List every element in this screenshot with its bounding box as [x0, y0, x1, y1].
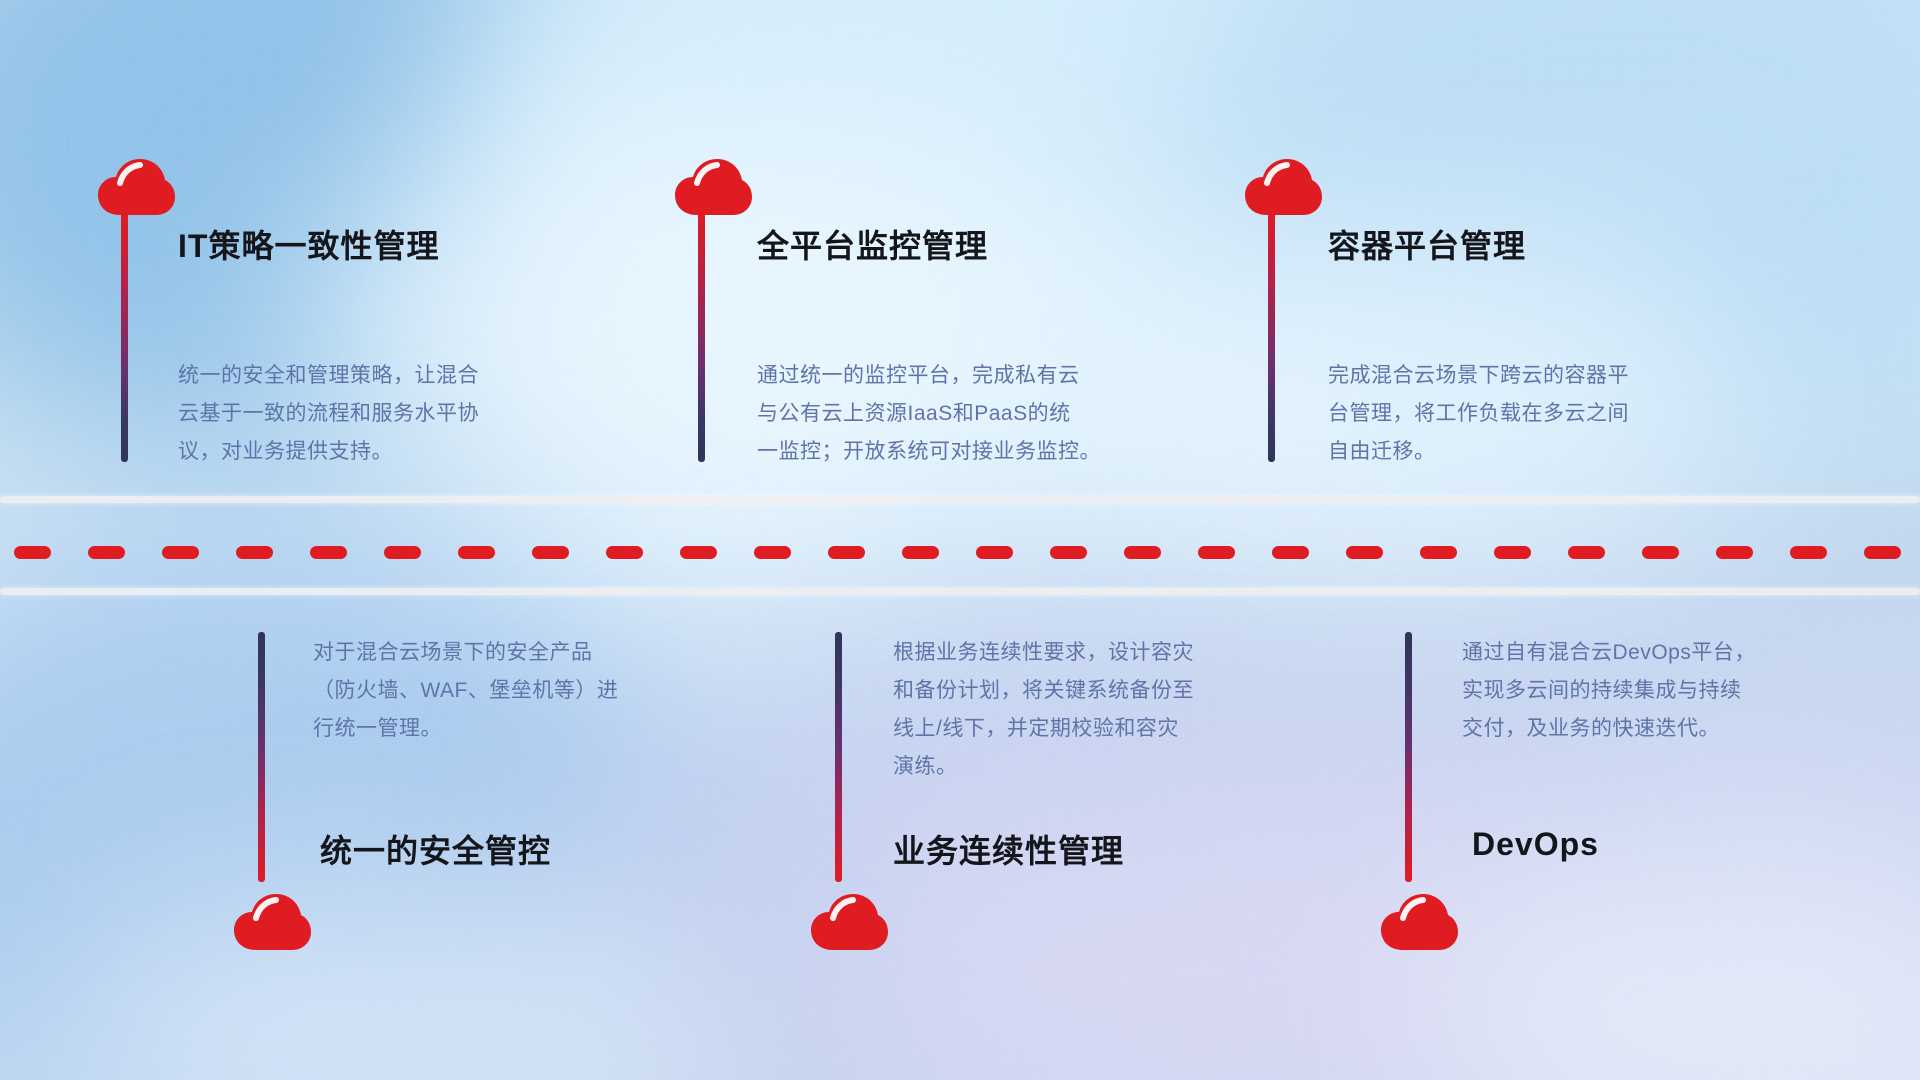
feature-title: 全平台监控管理 — [757, 221, 988, 267]
road-dash-segment — [1568, 546, 1605, 559]
road-dash-segment — [1420, 546, 1457, 559]
cloud-icon-glyph — [1379, 893, 1459, 955]
road-dash-segment — [1642, 546, 1679, 559]
road-dash-line — [0, 546, 1920, 559]
connector-line — [121, 212, 128, 462]
road-dash-segment — [680, 546, 717, 559]
road-dash-segment — [754, 546, 791, 559]
cloud-icon-glyph — [809, 893, 889, 955]
feature-description: 完成混合云场景下跨云的容器平 台管理，将工作负载在多云之间 自由迁移。 — [1328, 357, 1778, 471]
road-dash-segment — [1050, 546, 1087, 559]
road-dash-segment — [1346, 546, 1383, 559]
road-dash-segment — [14, 546, 51, 559]
road-dash-segment — [1494, 546, 1531, 559]
cloud-icon — [673, 158, 753, 220]
road-dash-segment — [236, 546, 273, 559]
road-dash-segment — [1716, 546, 1753, 559]
road-dash-segment — [828, 546, 865, 559]
cloud-icon-glyph — [673, 158, 753, 220]
road-dash-segment — [1272, 546, 1309, 559]
feature-description: 对于混合云场景下的安全产品 （防火墙、WAF、堡垒机等）进 行统一管理。 — [313, 634, 753, 748]
cloud-icon-glyph — [1243, 158, 1323, 220]
cloud-icon — [809, 893, 889, 955]
cloud-icon-glyph — [96, 158, 176, 220]
feature-description: 通过统一的监控平台，完成私有云 与公有云上资源IaaS和PaaS的统 一监控；开… — [757, 357, 1217, 471]
road-dash-segment — [1124, 546, 1161, 559]
feature-title: 统一的安全管控 — [320, 826, 551, 872]
road-dash-segment — [902, 546, 939, 559]
road-edge-top — [0, 496, 1920, 503]
road-dash-segment — [162, 546, 199, 559]
cloud-icon — [96, 158, 176, 220]
feature-title: DevOps — [1472, 826, 1599, 863]
feature-description: 根据业务连续性要求，设计容灾 和备份计划，将关键系统备份至 线上/线下，并定期校… — [893, 634, 1343, 786]
road-dash-segment — [458, 546, 495, 559]
road-dash-segment — [1198, 546, 1235, 559]
feature-title: IT策略一致性管理 — [178, 221, 439, 267]
cloud-icon — [1379, 893, 1459, 955]
connector-line — [835, 632, 842, 882]
connector-line — [1405, 632, 1412, 882]
road-dash-segment — [384, 546, 421, 559]
cloud-icon-glyph — [232, 893, 312, 955]
feature-description: 统一的安全和管理策略，让混合 云基于一致的流程和服务水平协 议，对业务提供支持。 — [178, 357, 628, 471]
road-dash-segment — [88, 546, 125, 559]
feature-title: 业务连续性管理 — [893, 826, 1124, 872]
road-dash-segment — [606, 546, 643, 559]
cloud-icon — [232, 893, 312, 955]
connector-line — [258, 632, 265, 882]
feature-title: 容器平台管理 — [1328, 221, 1526, 267]
feature-description: 通过自有混合云DevOps平台， 实现多云间的持续集成与持续 交付，及业务的快速… — [1462, 634, 1912, 748]
road-edge-bottom — [0, 588, 1920, 595]
road-dash-segment — [976, 546, 1013, 559]
road-dash-segment — [310, 546, 347, 559]
road-dash-segment — [1864, 546, 1901, 559]
road-dash-segment — [532, 546, 569, 559]
infographic-canvas: IT策略一致性管理 统一的安全和管理策略，让混合 云基于一致的流程和服务水平协 … — [0, 0, 1920, 1080]
connector-line — [698, 212, 705, 462]
road-dash-segment — [1790, 546, 1827, 559]
cloud-icon — [1243, 158, 1323, 220]
connector-line — [1268, 212, 1275, 462]
